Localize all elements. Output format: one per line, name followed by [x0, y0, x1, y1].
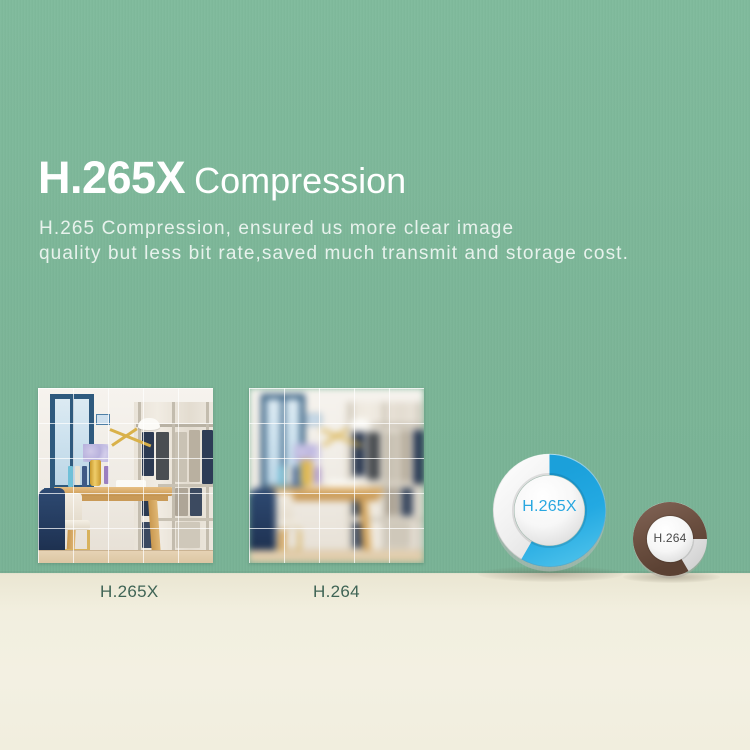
- scene-floor-line: [38, 550, 213, 551]
- scene-garment: [387, 522, 411, 548]
- subtitle-line-1: H.265 Compression, ensured us more clear…: [39, 216, 629, 241]
- scene-garment: [400, 430, 411, 482]
- scene-lamp-shade: [138, 418, 160, 430]
- scene-garment: [386, 432, 398, 482]
- scene-garment: [189, 430, 200, 482]
- scene-wall-poster: [96, 414, 110, 425]
- scene-garment: [175, 488, 188, 516]
- caption-h265x: H.265X: [100, 582, 159, 602]
- scene-bottle: [279, 466, 284, 487]
- scene-garment: [367, 432, 380, 480]
- title-codec-name: H.265X: [38, 152, 185, 203]
- room-scene-blurred: [249, 388, 424, 563]
- scene-vase: [90, 460, 101, 486]
- scene-garment: [353, 432, 365, 476]
- scene-shelf: [158, 518, 213, 521]
- room-scene-sharp: [38, 388, 213, 563]
- scene-garment: [142, 432, 154, 476]
- scene-garment: [386, 488, 399, 516]
- scene-garment: [176, 522, 200, 548]
- scene-vase: [301, 460, 312, 486]
- infographic-canvas: H.265XCompression H.265 Compression, ens…: [0, 0, 750, 750]
- scene-bottle: [293, 466, 298, 488]
- scene-bottle: [104, 466, 109, 484]
- scene-garment: [175, 432, 187, 482]
- scene-floor: [38, 550, 213, 563]
- caption-h264: H.264: [313, 582, 360, 602]
- gauge-small-hub: [647, 516, 693, 562]
- scene-lamp-shade: [349, 418, 371, 430]
- gauge-h265x: H.265X: [491, 452, 608, 574]
- scene-garment: [156, 432, 169, 480]
- scene-bottle: [68, 466, 73, 487]
- scene-shelf: [369, 518, 424, 521]
- sample-image-h264: [249, 388, 424, 563]
- scene-garment: [190, 488, 202, 516]
- page-title: H.265XCompression: [38, 155, 406, 200]
- sample-image-h265x: [38, 388, 213, 563]
- title-subject: Compression: [194, 160, 406, 201]
- scene-garment: [202, 430, 213, 484]
- scene-bottle: [286, 466, 291, 485]
- scene-garment: [413, 430, 424, 484]
- gauge-large-svg: [491, 452, 608, 574]
- scene-bottle: [75, 466, 80, 485]
- gauge-large-hub: [515, 476, 585, 546]
- scene-floor-line: [249, 550, 424, 551]
- gauge-small-svg: [631, 500, 709, 580]
- gauge-h264: H.264: [631, 500, 709, 580]
- subtitle-line-2: quality but less bit rate,saved much tra…: [39, 241, 629, 266]
- scene-wall-poster: [307, 414, 321, 425]
- subtitle-description: H.265 Compression, ensured us more clear…: [39, 216, 629, 266]
- scene-floor: [249, 550, 424, 563]
- scene-bottle: [82, 466, 87, 488]
- scene-garment: [401, 488, 413, 516]
- scene-bottle: [315, 466, 320, 484]
